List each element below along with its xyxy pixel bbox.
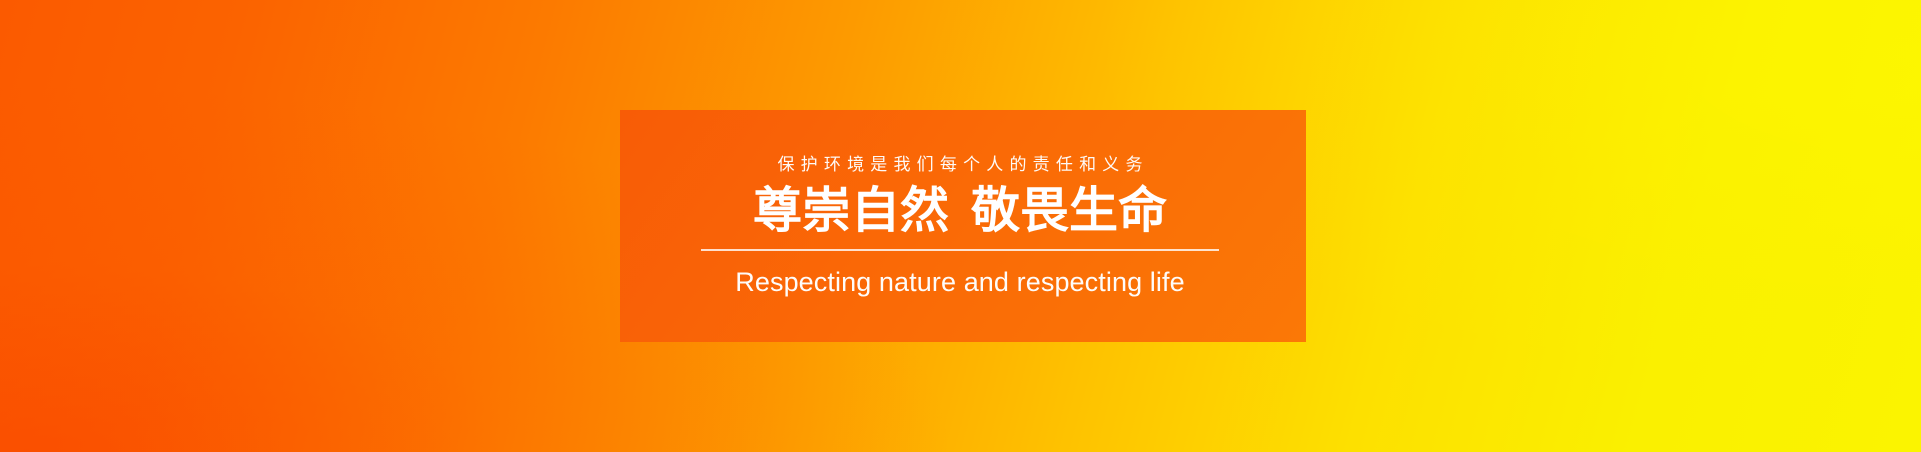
headline-divider bbox=[701, 249, 1219, 251]
slogan-panel: 保护环境是我们每个人的责任和义务 尊崇自然敬畏生命 Respecting nat… bbox=[620, 110, 1306, 342]
tagline-text: 保护环境是我们每个人的责任和义务 bbox=[771, 156, 1148, 173]
environmental-slogan-banner: 保护环境是我们每个人的责任和义务 尊崇自然敬畏生命 Respecting nat… bbox=[0, 0, 1921, 452]
headline-part-one: 尊崇自然 bbox=[753, 184, 949, 238]
headline-part-two: 敬畏生命 bbox=[971, 184, 1167, 238]
headline-text: 尊崇自然敬畏生命 bbox=[753, 186, 1167, 238]
slogan-panel-content: 保护环境是我们每个人的责任和义务 尊崇自然敬畏生命 Respecting nat… bbox=[700, 110, 1220, 342]
subtitle-text: Respecting nature and respecting life bbox=[735, 269, 1184, 296]
